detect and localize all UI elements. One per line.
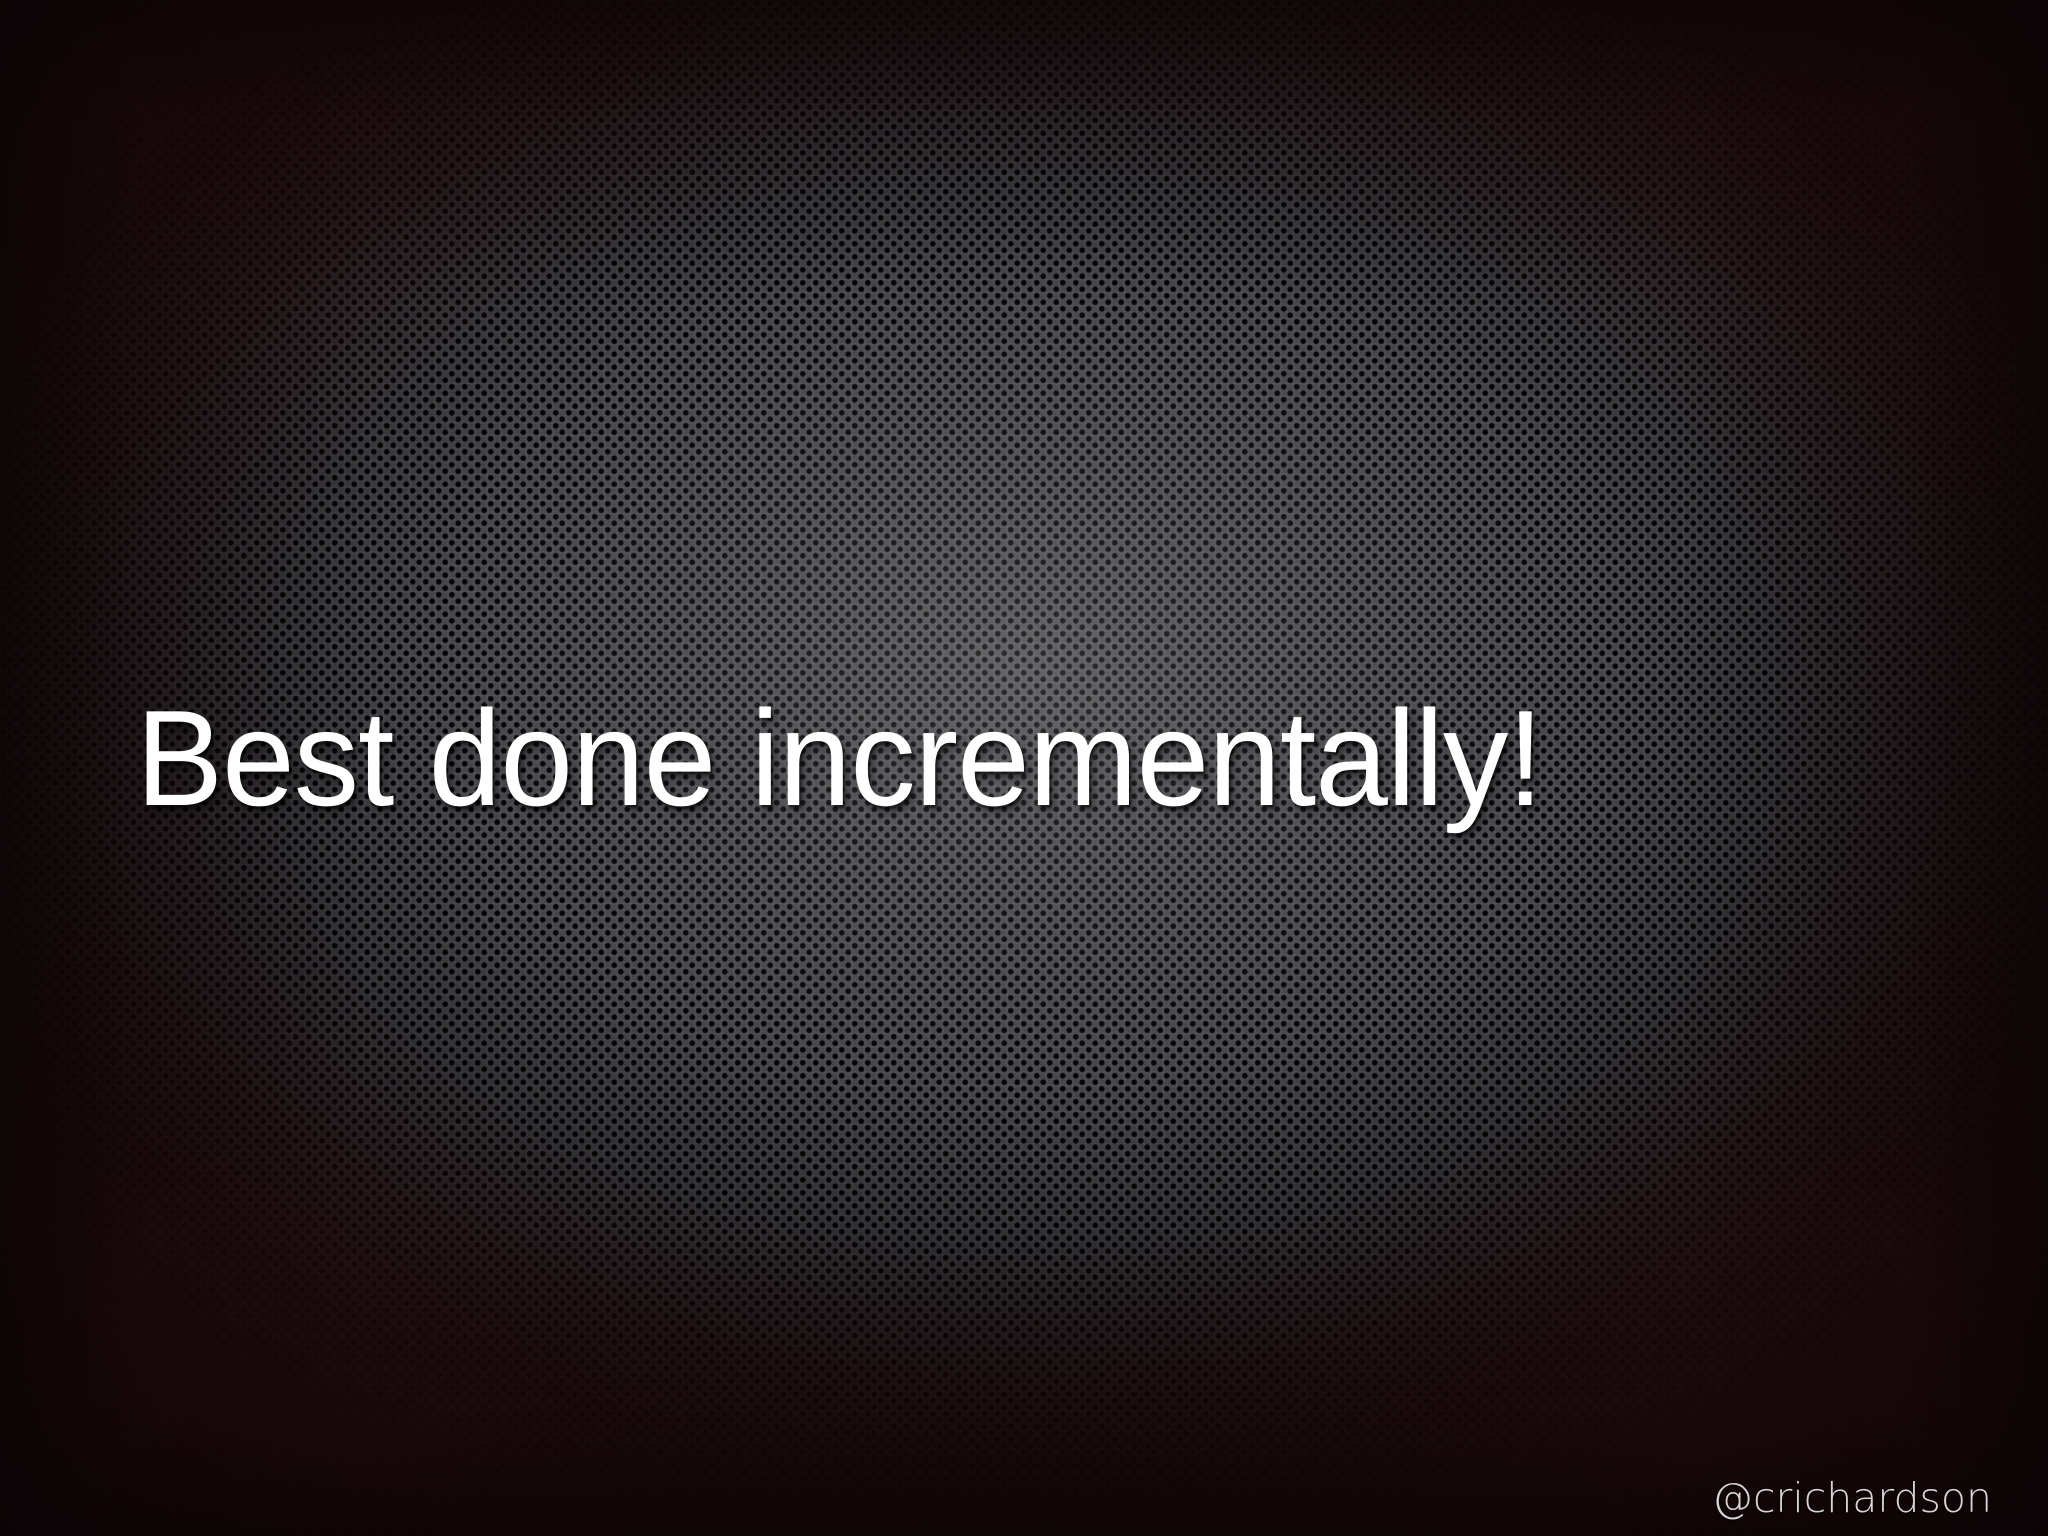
author-watermark: @crichardson	[1712, 1474, 1992, 1522]
slide-headline: Best done incrementally!	[136, 690, 1864, 826]
slide-content: Best done incrementally! @crichardson	[0, 0, 2048, 1536]
slide-canvas: Best done incrementally! @crichardson	[0, 0, 2048, 1536]
